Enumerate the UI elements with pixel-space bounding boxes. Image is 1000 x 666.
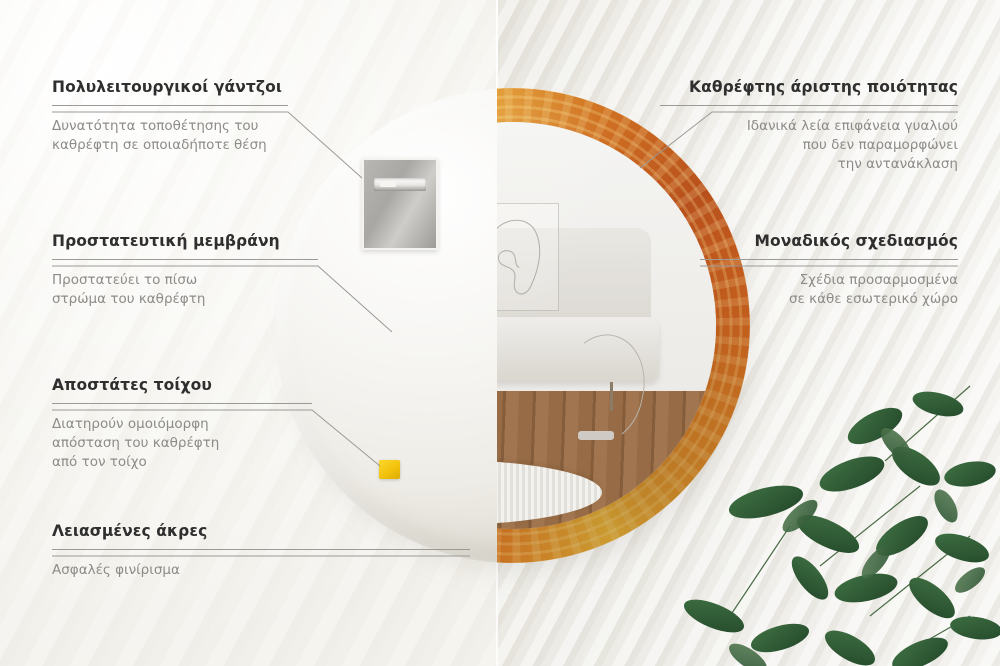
callout-description: Ασφαλές φινίρισμα — [52, 561, 470, 580]
callout-description: Δυνατότητα τοποθέτησης του καθρέφτη σε ο… — [52, 117, 288, 155]
reflected-floor-lamp-base — [578, 431, 615, 440]
callout-wall-spacers: Αποστάτες τοίχου Διατηρούν ομοιόμορφη απ… — [52, 376, 312, 472]
callout-protective-film: Προστατευτική μεμβράνη Προστατεύει το πί… — [52, 232, 318, 309]
desc-line: Δυνατότητα τοποθέτησης του — [52, 117, 288, 136]
hook-plate — [362, 158, 438, 250]
desc-line: καθρέφτη σε οποιαδήποτε θέση — [52, 136, 288, 155]
callout-unique-design: Μοναδικός σχεδιασμός Σχέδια προσαρμοσμέν… — [700, 232, 958, 309]
callout-title: Λειασμένες άκρες — [52, 522, 470, 540]
desc-line: σε κάθε εσωτερικό χώρο — [700, 290, 958, 309]
callout-rule — [52, 105, 288, 106]
desc-line: Ιδανικά λεία επιφάνεια γυαλιού — [660, 117, 958, 136]
desc-line: απόσταση του καθρέφτη — [52, 434, 312, 453]
callout-description: Προστατεύει το πίσω στρώμα του καθρέφτη — [52, 271, 318, 309]
desc-line: Προστατεύει το πίσω — [52, 271, 318, 290]
callout-rule — [52, 403, 312, 404]
callout-rule — [52, 259, 318, 260]
callout-premium-mirror: Καθρέφτης άριστης ποιότητας Ιδανικά λεία… — [660, 78, 958, 174]
callout-title: Καθρέφτης άριστης ποιότητας — [660, 78, 958, 96]
desc-line: Διατηρούν ομοιόμορφη — [52, 415, 312, 434]
desc-line: Ασφαλές φινίρισμα — [52, 561, 470, 580]
callout-title: Προστατευτική μεμβράνη — [52, 232, 318, 250]
callout-rule — [52, 549, 470, 550]
desc-line: Σχέδια προσαρμοσμένα — [700, 271, 958, 290]
wall-spacer — [379, 460, 400, 479]
desc-line: την αντανάκλαση — [660, 155, 958, 174]
callout-description: Ιδανικά λεία επιφάνεια γυαλιού που δεν π… — [660, 117, 958, 174]
callout-rule — [700, 259, 958, 260]
callout-title: Μοναδικός σχεδιασμός — [700, 232, 958, 250]
callout-title: Αποστάτες τοίχου — [52, 376, 312, 394]
infographic-canvas: Πολυλειτουργικοί γάντζοι Δυνατότητα τοπο… — [0, 0, 1000, 666]
callout-description: Σχέδια προσαρμοσμένα σε κάθε εσωτερικό χ… — [700, 271, 958, 309]
callout-smooth-edges: Λειασμένες άκρες Ασφαλές φινίρισμα — [52, 522, 470, 580]
desc-line: από τον τοίχο — [52, 453, 312, 472]
callout-title: Πολυλειτουργικοί γάντζοι — [52, 78, 288, 96]
desc-line: που δεν παραμορφώνει — [660, 136, 958, 155]
callout-rule — [660, 105, 958, 106]
foliage-decoration — [670, 366, 1000, 666]
callout-description: Διατηρούν ομοιόμορφη απόσταση του καθρέφ… — [52, 415, 312, 472]
hook-slot — [374, 178, 426, 191]
callout-hooks: Πολυλειτουργικοί γάντζοι Δυνατότητα τοπο… — [52, 78, 288, 155]
desc-line: στρώμα του καθρέφτη — [52, 290, 318, 309]
